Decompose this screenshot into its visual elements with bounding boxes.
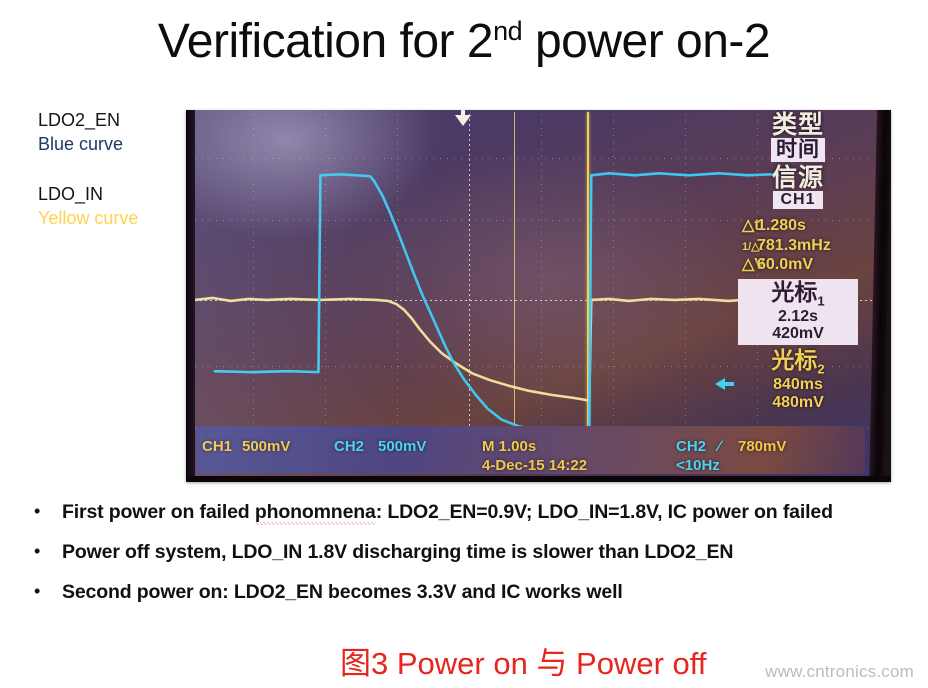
measure-frequency-symbol: 1/△t xyxy=(742,241,757,254)
legend-ldo-in-curve: Yellow curve xyxy=(38,206,138,230)
measure-type-value-wrap[interactable]: 时间 xyxy=(738,138,858,162)
cursor1-label: 光标 xyxy=(771,279,817,305)
bullet-marker: • xyxy=(30,538,62,564)
measure-type-value: 时间 xyxy=(771,138,825,162)
cursor1-index: 1 xyxy=(817,293,824,308)
measure-delta-v-symbol: △V xyxy=(742,255,757,275)
cursor2-title: 光标2 xyxy=(738,348,858,376)
legend-ldo2-en-signal: LDO2_EN xyxy=(38,108,123,132)
ch2-level-marker-tail xyxy=(725,382,734,386)
measure-delta-v: △V60.0mV xyxy=(738,255,858,275)
cursor2-voltage: 480mV xyxy=(738,394,858,412)
watermark: www.cntronics.com xyxy=(765,662,914,682)
measure-frequency: 1/△t781.3mHz xyxy=(738,236,858,256)
status-ch1-scale: 500mV xyxy=(242,438,290,455)
measure-delta-t-value: 1.280s xyxy=(757,217,806,234)
cursor1-voltage: 420mV xyxy=(740,325,856,343)
bullet-item-1: • First power on failed phonomnena: LDO2… xyxy=(30,498,910,527)
bullet-text-2: Power off system, LDO_IN 1.8V dischargin… xyxy=(62,538,733,567)
measure-delta-v-value: 60.0mV xyxy=(757,256,813,273)
bullet-item-2: • Power off system, LDO_IN 1.8V discharg… xyxy=(30,538,910,567)
measure-delta-t: △t1.280s xyxy=(738,216,858,236)
measure-source-value-wrap[interactable]: CH1 xyxy=(738,191,858,209)
page-title-superscript: nd xyxy=(493,16,522,46)
measure-delta-t-symbol: △t xyxy=(742,216,757,236)
status-trigger-level: 780mV xyxy=(738,438,786,455)
page-title-part2: power on-2 xyxy=(522,15,770,68)
bullet-1-pre: First power on failed xyxy=(62,501,255,523)
photo-bezel-left xyxy=(186,110,195,482)
status-datetime: 4-Dec-15 14:22 xyxy=(482,457,587,474)
page-title: Verification for 2nd power on-2 xyxy=(0,14,928,69)
cursor1-card[interactable]: 光标1 2.12s 420mV xyxy=(738,279,858,345)
legend-ldo2-en: LDO2_EN Blue curve xyxy=(38,108,123,157)
waveform-ldo2-en-blue xyxy=(215,173,779,432)
bullet-item-3: • Second power on: LDO2_EN becomes 3.3V … xyxy=(30,578,910,607)
status-ch2-scale: 500mV xyxy=(378,438,426,455)
page-title-part1: Verification for 2 xyxy=(158,15,493,68)
measure-source-value: CH1 xyxy=(773,191,822,209)
bullet-marker: • xyxy=(30,578,62,604)
cursor2-time: 840ms xyxy=(738,376,858,394)
bullet-list: • First power on failed phonomnena: LDO2… xyxy=(30,498,910,618)
measure-type-label: 类型 xyxy=(738,112,858,138)
slide-root: Verification for 2nd power on-2 LDO2_EN … xyxy=(0,0,928,688)
oscilloscope-photo: 1 类型 时间 信源 CH1 △t1.280s 1/△t781.3mHz xyxy=(186,110,891,482)
status-ch2-label: CH2 xyxy=(334,438,364,455)
oscilloscope-screen: 1 类型 时间 信源 CH1 △t1.280s 1/△t781.3mHz xyxy=(191,110,878,478)
bullet-1-misspelled-word: phonomnena xyxy=(255,501,376,525)
legend-ldo2-en-curve: Blue curve xyxy=(38,132,123,156)
measurement-panel: 类型 时间 信源 CH1 △t1.280s 1/△t781.3mHz △V60.… xyxy=(738,112,858,411)
measure-source-label: 信源 xyxy=(738,165,858,191)
status-frequency-readout: <10Hz xyxy=(676,457,720,474)
bullet-text-1: First power on failed phonomnena: LDO2_E… xyxy=(62,498,833,527)
measure-frequency-value: 781.3mHz xyxy=(757,237,831,254)
cursor1-title: 光标1 xyxy=(740,280,856,308)
waveform-ldo-in-yellow xyxy=(195,298,778,401)
bullet-1-post: : LDO2_EN=0.9V; LDO_IN=1.8V, IC power on… xyxy=(376,501,833,523)
cursor1-time: 2.12s xyxy=(740,308,856,326)
status-timebase: M 1.00s xyxy=(482,438,536,455)
cursor2-index: 2 xyxy=(817,362,824,377)
status-trigger-slope-icon: ∕ xyxy=(718,438,721,455)
cursor2-label: 光标 xyxy=(771,347,817,373)
status-ch1-label: CH1 xyxy=(202,438,232,455)
trigger-position-marker-icon[interactable] xyxy=(455,115,471,126)
bullet-text-3: Second power on: LDO2_EN becomes 3.3V an… xyxy=(62,578,623,607)
ch2-level-marker-icon[interactable] xyxy=(715,378,725,390)
legend-ldo-in: LDO_IN Yellow curve xyxy=(38,182,138,231)
status-trigger-source: CH2 xyxy=(676,438,706,455)
legend-ldo-in-signal: LDO_IN xyxy=(38,182,138,206)
scope-status-bar: CH1 500mV CH2 500mV M 1.00s 4-Dec-15 14:… xyxy=(196,426,865,474)
cursor2-card[interactable]: 光标2 840ms 480mV xyxy=(738,348,858,411)
photo-bezel-bottom xyxy=(186,476,891,482)
bullet-marker: • xyxy=(30,498,62,524)
figure-caption: 图3 Power on 与 Power off xyxy=(340,638,706,683)
